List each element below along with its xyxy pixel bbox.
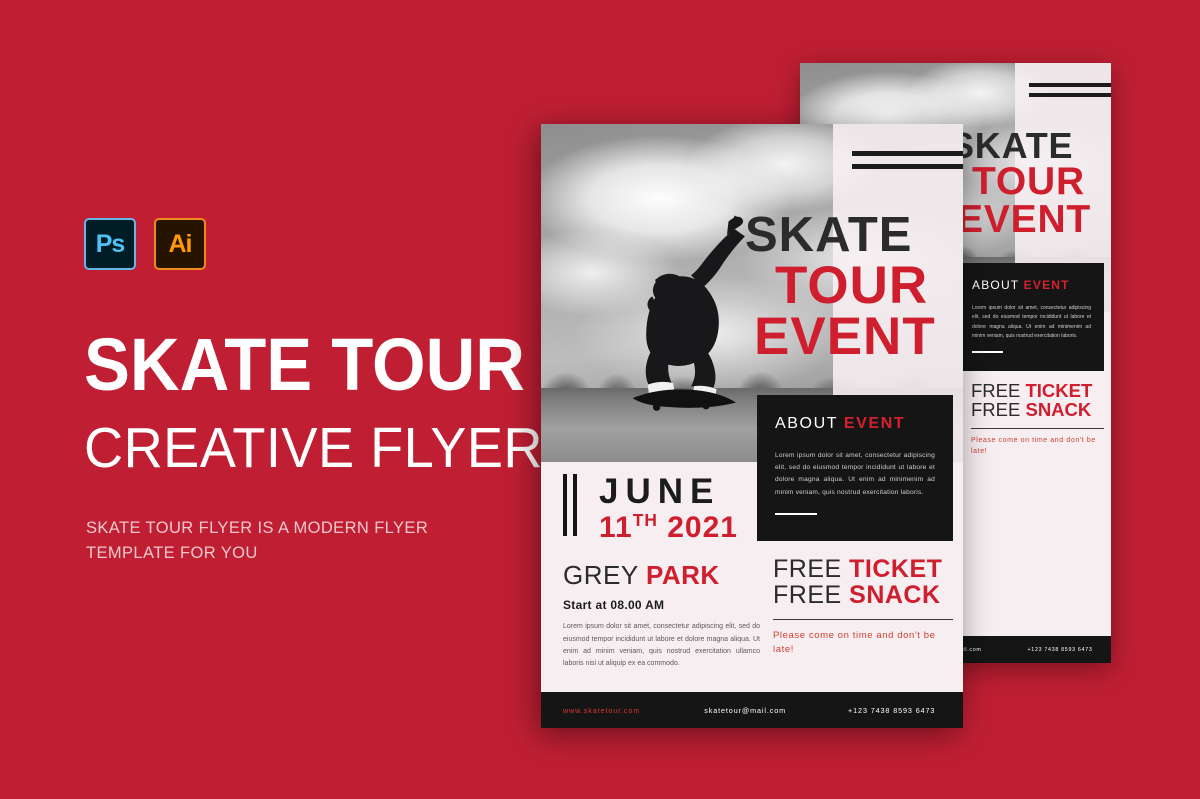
offer-line-2-bold: SNACK [1025,399,1091,420]
illustrator-icon: Ai [154,218,206,270]
promo-description: SKATE TOUR FLYER IS A MODERN FLYER TEMPL… [86,516,486,566]
offer-line-1-bold: TICKET [849,555,942,583]
flyer-headline-skate: SKATE [745,213,912,259]
offer-line-2-light: FREE [971,399,1020,420]
about-event-title: ABOUT EVENT [775,415,935,433]
about-title-bold: EVENT [1024,278,1070,292]
footer-email: skatetour@mail.com [704,706,786,715]
about-title-bold: EVENT [844,415,905,432]
flyer-headline-skate: SKATE [950,129,1073,162]
offer-column: FREE TICKET FREE SNACK Please come on ti… [773,556,953,658]
flyer-front-preview: SKATE TOUR EVENT ABOUT EVENT Lorem ipsum… [541,124,963,728]
event-day-ordinal: TH [633,510,658,530]
promo-subtitle: CREATIVE FLYER [84,420,543,477]
offer-line-2: FREE SNACK [773,582,953,608]
headline-rules [1029,83,1111,97]
flyer-headline-tour: TOUR [972,164,1085,200]
footer-phone: +123 7438 8593 6473 [1028,647,1093,653]
offer-line-2-bold: SNACK [849,581,940,609]
event-day-year: 11TH 2021 [599,510,738,545]
offer-line-1-light: FREE [773,555,842,583]
flyer-headline-event: EVENT [957,202,1091,238]
about-title-light: ABOUT [972,278,1019,292]
offer-divider [773,619,953,621]
event-year: 2021 [667,511,738,544]
offer-line-1-bold: TICKET [1025,380,1092,401]
about-title-light: ABOUT [775,415,838,432]
promo-title: SKATE TOUR [84,330,525,400]
date-accent-bars [563,474,577,536]
offer-line-1-light: FREE [971,380,1020,401]
about-event-title: ABOUT EVENT [972,278,1091,292]
venue-heading-light: GREY [563,560,638,590]
photoshop-icon-label: Ps [96,230,125,259]
venue-start-time: Start at 08.00 AM [563,598,760,612]
flyer-headline-tour: TOUR [775,261,928,310]
event-day: 11 [599,511,633,544]
offer-divider [971,428,1104,429]
promo-panel: Ps Ai SKATE TOUR CREATIVE FLYER SKATE TO… [84,0,554,799]
photoshop-icon: Ps [84,218,136,270]
venue-column: GREY PARK Start at 08.00 AM Lorem ipsum … [563,562,760,670]
offer-note: Please come on time and don't be late! [773,629,953,658]
event-month: JUNE [599,472,720,512]
offer-line-2: FREE SNACK [971,400,1104,419]
headline-rules [852,151,963,169]
venue-heading: GREY PARK [563,562,760,589]
app-icon-group: Ps Ai [84,218,206,270]
venue-heading-bold: PARK [646,560,720,590]
offer-note: Please come on time and don't be late! [971,436,1104,457]
flyer-headline-event: EVENT [754,312,936,361]
event-date-block: JUNE 11TH 2021 [563,472,803,542]
venue-body-text: Lorem ipsum dolor sit amet, consectetur … [563,621,760,670]
offer-column: FREE TICKET FREE SNACK Please come on ti… [971,381,1104,457]
illustrator-icon-label: Ai [169,230,192,259]
offer-line-1: FREE TICKET [971,381,1104,400]
footer-phone: +123 7438 8593 6473 [848,706,935,715]
flyer-footer: www.skatetour.com skatetour@mail.com +12… [541,692,963,728]
offer-line-2-light: FREE [773,581,842,609]
offer-line-1: FREE TICKET [773,556,953,582]
footer-website: www.skatetour.com [563,706,640,715]
